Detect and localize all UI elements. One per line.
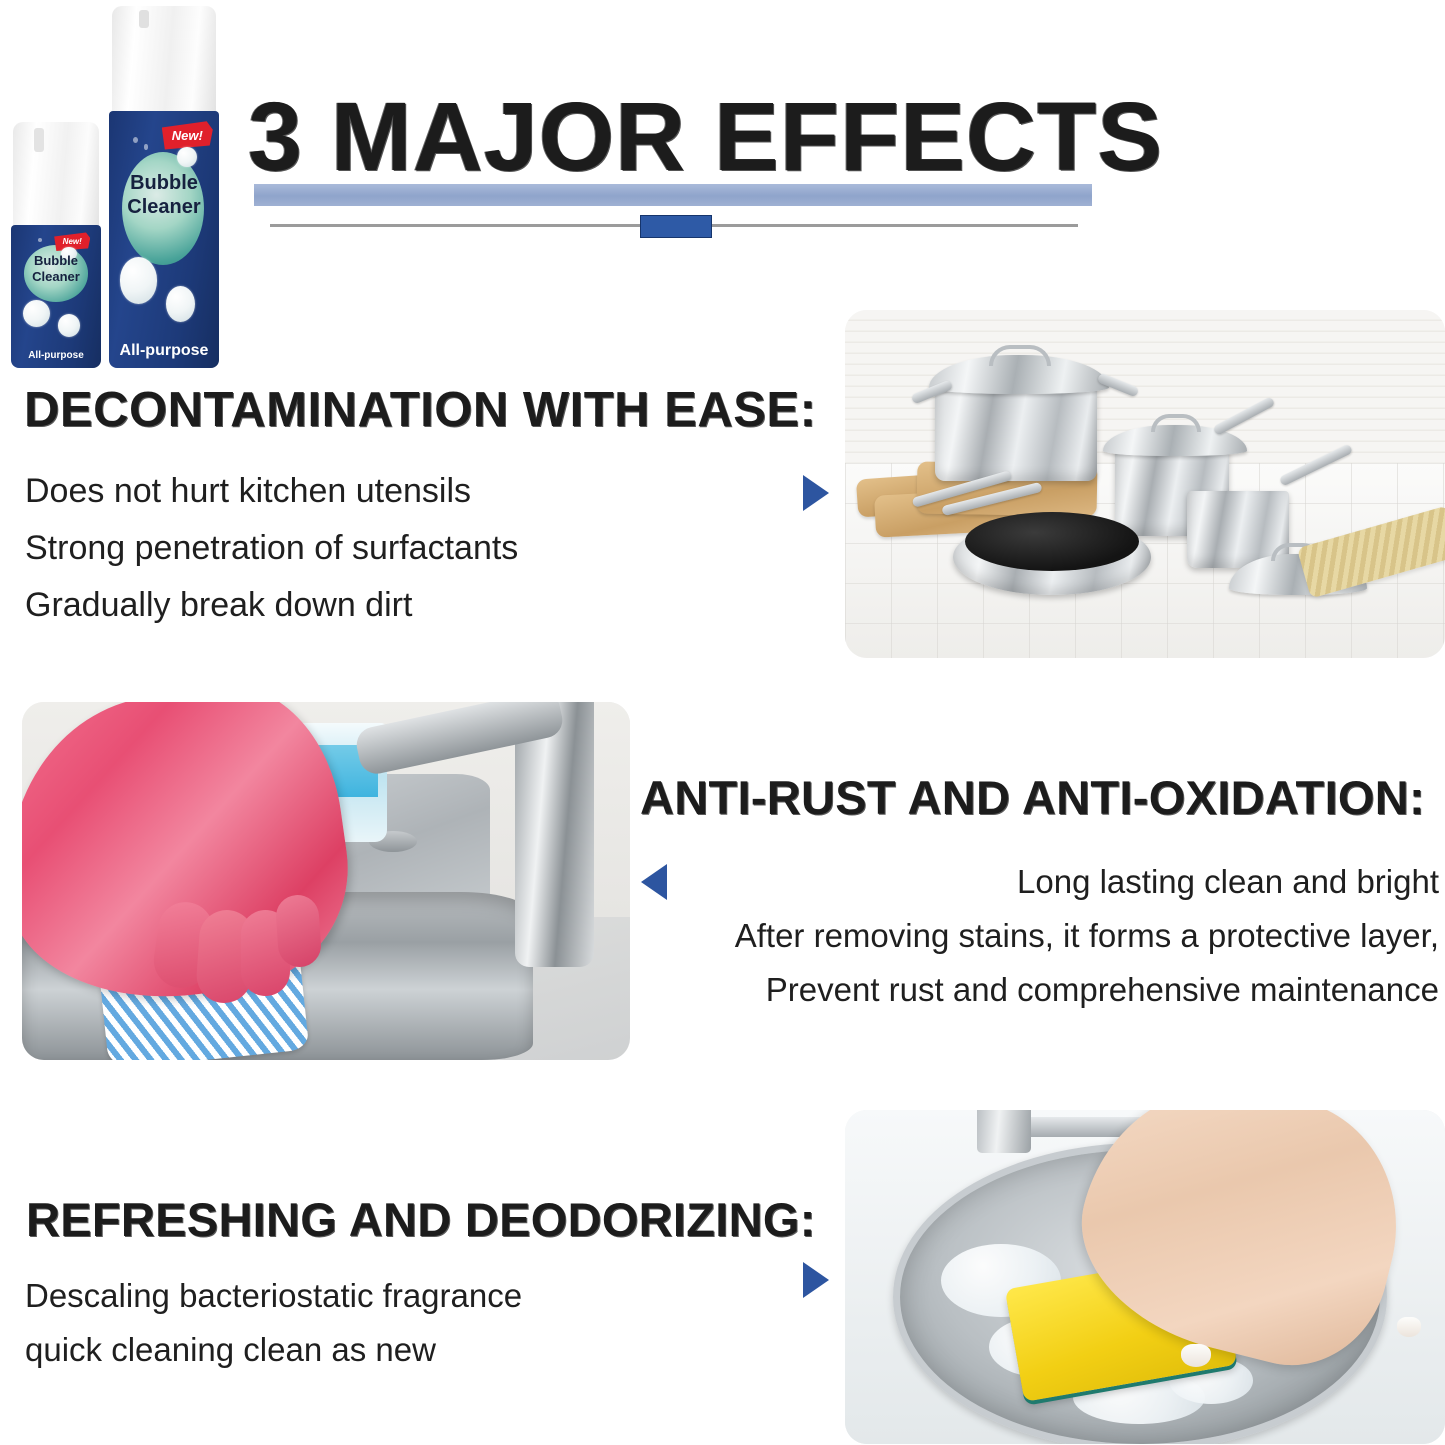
page-title-block: 3 MAJOR EFFECTS — [248, 88, 1094, 233]
section-body-refreshing: Descaling bacteriostatic fragrance quick… — [25, 1272, 522, 1380]
bubble-icon — [38, 238, 43, 242]
bubble-icon — [120, 257, 158, 303]
brand-line-1-large: Bubble — [109, 173, 220, 193]
bubble-icon — [144, 144, 148, 149]
body-line: After removing stains, it forms a protec… — [735, 912, 1439, 960]
body-line: Does not hurt kitchen utensils — [25, 468, 518, 514]
body-line: Descaling bacteriostatic fragrance — [25, 1272, 522, 1320]
label-large: New! Bubble Cleaner All-purpose — [109, 111, 220, 368]
body-line: Prevent rust and comprehensive maintenan… — [735, 966, 1439, 1014]
all-purpose-label-large: All-purpose — [109, 342, 220, 360]
body-line: Gradually break down dirt — [25, 582, 518, 628]
brand-line-1-small: Bubble — [11, 254, 101, 267]
section-heading-decontamination: DECONTAMINATION WITH EASE: — [24, 382, 816, 438]
arrow-left-icon — [641, 864, 667, 900]
brand-line-2-large: Cleaner — [109, 197, 220, 217]
body-line: quick cleaning clean as new — [25, 1326, 522, 1374]
pump-nozzle-small — [34, 128, 44, 152]
bubble-icon — [166, 286, 195, 322]
section-heading-antirust: ANTI-RUST AND ANTI-OXIDATION: — [640, 770, 1425, 825]
infographic-canvas: New! Bubble Cleaner All-purpose New! — [0, 0, 1445, 1445]
photo-cookware-set — [845, 310, 1445, 658]
photo-sponge-washing-pot — [845, 1110, 1445, 1444]
section-heading-refreshing: REFRESHING AND DEODORIZING: — [26, 1192, 816, 1247]
new-badge-large: New! — [162, 121, 213, 149]
bottle-large: New! Bubble Cleaner All-purpose — [105, 6, 223, 368]
bubble-icon — [23, 300, 50, 327]
bubble-icon — [133, 137, 139, 143]
pump-nozzle-large — [139, 10, 149, 27]
product-bottles-image: New! Bubble Cleaner All-purpose New! — [4, 4, 234, 378]
label-small: New! Bubble Cleaner All-purpose — [11, 225, 101, 368]
photo-gloved-hand-sink — [22, 702, 630, 1060]
pump-cap-small — [13, 122, 99, 230]
section-body-decontamination: Does not hurt kitchen utensils Strong pe… — [25, 468, 518, 639]
title-underline-band — [254, 184, 1092, 206]
body-line: Strong penetration of surfactants — [25, 525, 518, 571]
pump-cap-large — [112, 6, 216, 115]
title-center-chip — [640, 215, 712, 238]
bottle-small: New! Bubble Cleaner All-purpose — [8, 122, 104, 368]
bubble-icon — [177, 147, 197, 168]
brand-line-2-small: Cleaner — [11, 270, 101, 283]
arrow-right-icon — [803, 475, 829, 511]
body-line: Long lasting clean and bright — [735, 858, 1439, 906]
section-body-antirust: Long lasting clean and bright After remo… — [735, 858, 1439, 1020]
page-title: 3 MAJOR EFFECTS — [248, 88, 1094, 185]
bubble-icon — [58, 314, 81, 337]
all-purpose-label-small: All-purpose — [11, 350, 101, 361]
arrow-right-icon — [803, 1262, 829, 1298]
